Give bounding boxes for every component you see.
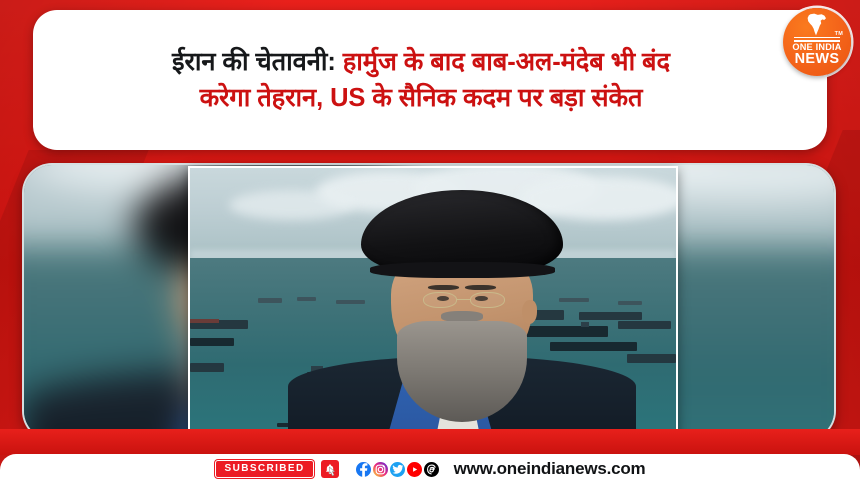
headline-line-2: करेगा तेहरान, US के सैनिक कदम पर बड़ा सं… [73, 80, 769, 116]
headline-card: ईरान की चेतावनी: हार्मुज के बाद बाब-अल-म… [33, 10, 827, 150]
india-map-icon [807, 13, 827, 36]
black-turban [361, 190, 562, 273]
cleric-figure [326, 190, 598, 442]
eyebrow-right [465, 285, 496, 290]
facebook-icon[interactable] [356, 462, 371, 477]
instagram-icon[interactable] [373, 462, 388, 477]
youtube-icon[interactable] [407, 462, 422, 477]
website-url[interactable]: www.oneindianews.com [454, 459, 646, 479]
logo-line-2: NEWS [795, 52, 840, 67]
media-inset-photo [188, 166, 678, 444]
headline-line-1: ईरान की चेतावनी: हार्मुज के बाद बाब-अल-म… [73, 44, 769, 80]
one-india-news-logo[interactable]: TM ONE INDIA NEWS [783, 8, 851, 76]
social-icons-row [356, 462, 439, 477]
bottom-red-band [0, 429, 860, 455]
inset-scene [190, 168, 676, 442]
threads-icon[interactable] [424, 462, 439, 477]
subscribed-button[interactable]: SUBSCRIBED [215, 460, 314, 478]
notification-bell-button[interactable] [321, 460, 339, 478]
logo-rules [794, 37, 840, 42]
news-card-canvas: ईरान की चेतावनी: हार्मुज के बाद बाब-अल-म… [0, 0, 860, 484]
eyebrow-left [428, 285, 459, 290]
footer-bar: SUBSCRIBED [0, 454, 860, 484]
headline-prefix: ईरान की चेतावनी: [172, 48, 336, 76]
hand-cursor-icon [328, 466, 339, 479]
eyeglasses-icon [423, 292, 505, 308]
ear [522, 300, 538, 324]
headline-line-1-main: हार्मुज के बाद बाब-अल-मंदेब भी बंद [343, 48, 670, 76]
twitter-icon[interactable] [390, 462, 405, 477]
